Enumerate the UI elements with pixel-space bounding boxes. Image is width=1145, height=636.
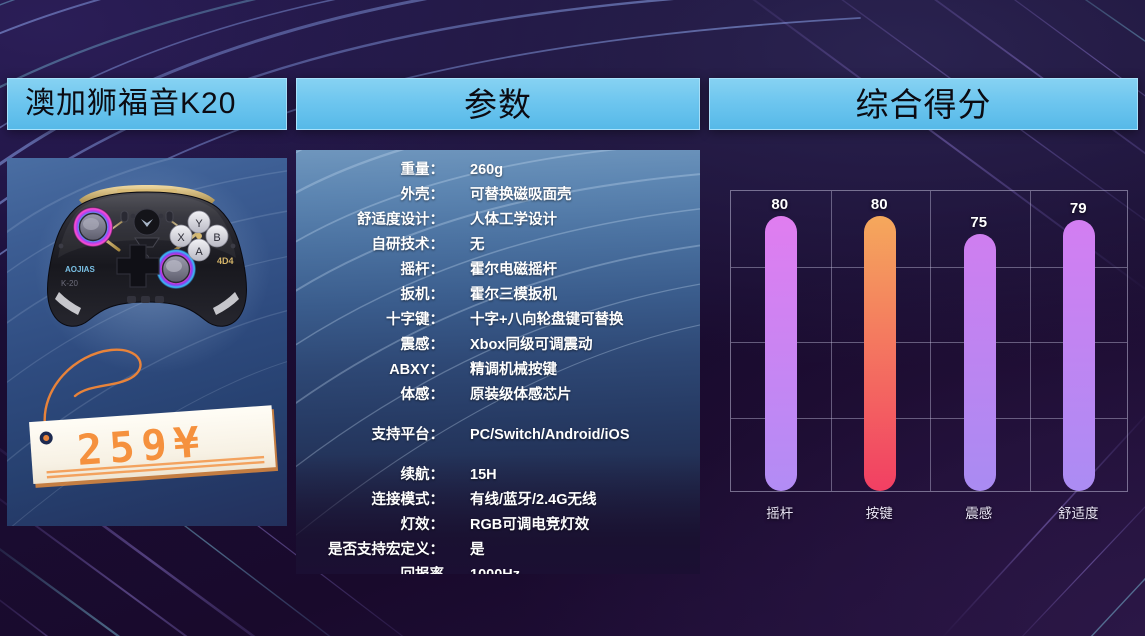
- chart-bar-value: 80: [871, 196, 888, 213]
- chart-category-label: 舒适度: [1029, 502, 1129, 522]
- spec-key: 自研技术：: [296, 233, 444, 254]
- product-name-text: 澳加狮福音K20: [25, 89, 236, 119]
- spec-row: 重量：260g: [296, 158, 700, 183]
- spec-value: 是: [470, 538, 485, 559]
- svg-text:4D4: 4D4: [217, 256, 234, 266]
- chart-plot-area: [730, 190, 1128, 492]
- spec-value: PC/Switch/Android/iOS: [470, 427, 630, 443]
- chart-category-label: 按键: [830, 502, 930, 522]
- spec-row: 连接模式：有线/蓝牙/2.4G无线: [296, 488, 700, 513]
- chart-bar[interactable]: [765, 216, 797, 491]
- spec-key: 震感：: [296, 333, 444, 354]
- gamepad-image: Y X B A AOJIAS K-20 4D4: [21, 174, 273, 344]
- spec-row: 扳机：霍尔三模扳机: [296, 283, 700, 308]
- chart-bar-column[interactable]: [831, 191, 931, 491]
- spec-value: 精调机械按键: [470, 358, 557, 379]
- svg-text:A: A: [195, 246, 203, 258]
- spec-value: 霍尔三模扳机: [470, 283, 557, 304]
- spec-key: 摇杆：: [296, 258, 444, 279]
- spec-value: 1000Hz: [470, 567, 520, 574]
- spec-row: 回报率1000Hz: [296, 563, 700, 574]
- chart-bar-column[interactable]: [930, 191, 1030, 491]
- spec-value: 15H: [470, 467, 497, 483]
- spec-value: 原装级体感芯片: [470, 383, 572, 404]
- spec-key: 体感：: [296, 383, 444, 404]
- chart-bar-value: 75: [970, 214, 987, 231]
- score-chart-panel: 80摇杆80按键75震感79舒适度: [709, 150, 1138, 550]
- spec-key: 支持平台：: [296, 423, 444, 444]
- slide-canvas: 澳加狮福音K20 参数 综合得分: [0, 0, 1145, 636]
- spec-value: 无: [470, 233, 485, 254]
- spec-value: 霍尔电磁摇杆: [470, 258, 557, 279]
- spec-key: 舒适度设计：: [296, 208, 444, 229]
- spec-value: 260g: [470, 162, 503, 178]
- svg-text:X: X: [177, 232, 185, 244]
- chart-bar[interactable]: [864, 216, 896, 491]
- spec-row: 摇杆：霍尔电磁摇杆: [296, 258, 700, 283]
- spec-value: 有线/蓝牙/2.4G无线: [470, 488, 597, 509]
- header-parameters: 参数: [296, 78, 700, 130]
- spec-key: 续航：: [296, 463, 444, 484]
- svg-text:Y: Y: [195, 218, 203, 230]
- spec-row: 是否支持宏定义：是: [296, 538, 700, 563]
- spec-key: 重量：: [296, 158, 444, 179]
- spec-key: 十字键：: [296, 308, 444, 329]
- spec-row-list: 重量：260g外壳：可替换磁吸面壳舒适度设计：人体工学设计自研技术：无摇杆：霍尔…: [296, 158, 700, 574]
- spec-value: RGB可调电竞灯效: [470, 513, 589, 534]
- header-product-name: 澳加狮福音K20: [7, 78, 287, 130]
- chart-category-label: 摇杆: [730, 502, 830, 522]
- spec-row: 十字键：十字+八向轮盘键可替换: [296, 308, 700, 333]
- header-overall-score: 综合得分: [709, 78, 1138, 130]
- spec-row: 舒适度设计：人体工学设计: [296, 208, 700, 233]
- spec-row: ABXY：精调机械按键: [296, 358, 700, 383]
- chart-bar-column[interactable]: [731, 191, 831, 491]
- spec-key: 回报率: [296, 563, 444, 574]
- chart-bar-column[interactable]: [1030, 191, 1130, 491]
- spec-key: 扳机：: [296, 283, 444, 304]
- spec-row: 震感：Xbox同级可调震动: [296, 333, 700, 358]
- spec-key: 是否支持宏定义：: [296, 538, 444, 559]
- chart-bar-value: 79: [1070, 200, 1087, 217]
- chart-bar-value: 80: [771, 196, 788, 213]
- spec-table-panel: 重量：260g外壳：可替换磁吸面壳舒适度设计：人体工学设计自研技术：无摇杆：霍尔…: [296, 150, 700, 574]
- svg-text:K-20: K-20: [61, 279, 78, 288]
- spec-row: 支持平台：PC/Switch/Android/iOS: [296, 423, 700, 448]
- chart-bar[interactable]: [964, 234, 996, 491]
- spec-key: ABXY：: [296, 358, 444, 379]
- overall-score-title-text: 综合得分: [856, 88, 992, 121]
- spec-key: 连接模式：: [296, 488, 444, 509]
- spec-row: 自研技术：无: [296, 233, 700, 258]
- spec-row: 外壳：可替换磁吸面壳: [296, 183, 700, 208]
- spec-row: 灯效：RGB可调电竞灯效: [296, 513, 700, 538]
- spec-row: 续航：15H: [296, 463, 700, 488]
- price-tag: 259¥ 259¥: [7, 336, 287, 522]
- spec-key: 外壳：: [296, 183, 444, 204]
- svg-text:B: B: [213, 232, 220, 244]
- spec-row: 体感：原装级体感芯片: [296, 383, 700, 408]
- spec-value: 可替换磁吸面壳: [470, 183, 572, 204]
- spec-value: 十字+八向轮盘键可替换: [470, 308, 623, 329]
- spec-value: Xbox同级可调震动: [470, 333, 592, 354]
- svg-text:AOJIAS: AOJIAS: [65, 265, 95, 274]
- chart-bar[interactable]: [1063, 220, 1095, 491]
- chart-category-label: 震感: [929, 502, 1029, 522]
- product-image-panel: Y X B A AOJIAS K-20 4D4: [7, 158, 287, 526]
- parameters-title-text: 参数: [464, 88, 532, 121]
- spec-value: 人体工学设计: [470, 208, 557, 229]
- spec-key: 灯效：: [296, 513, 444, 534]
